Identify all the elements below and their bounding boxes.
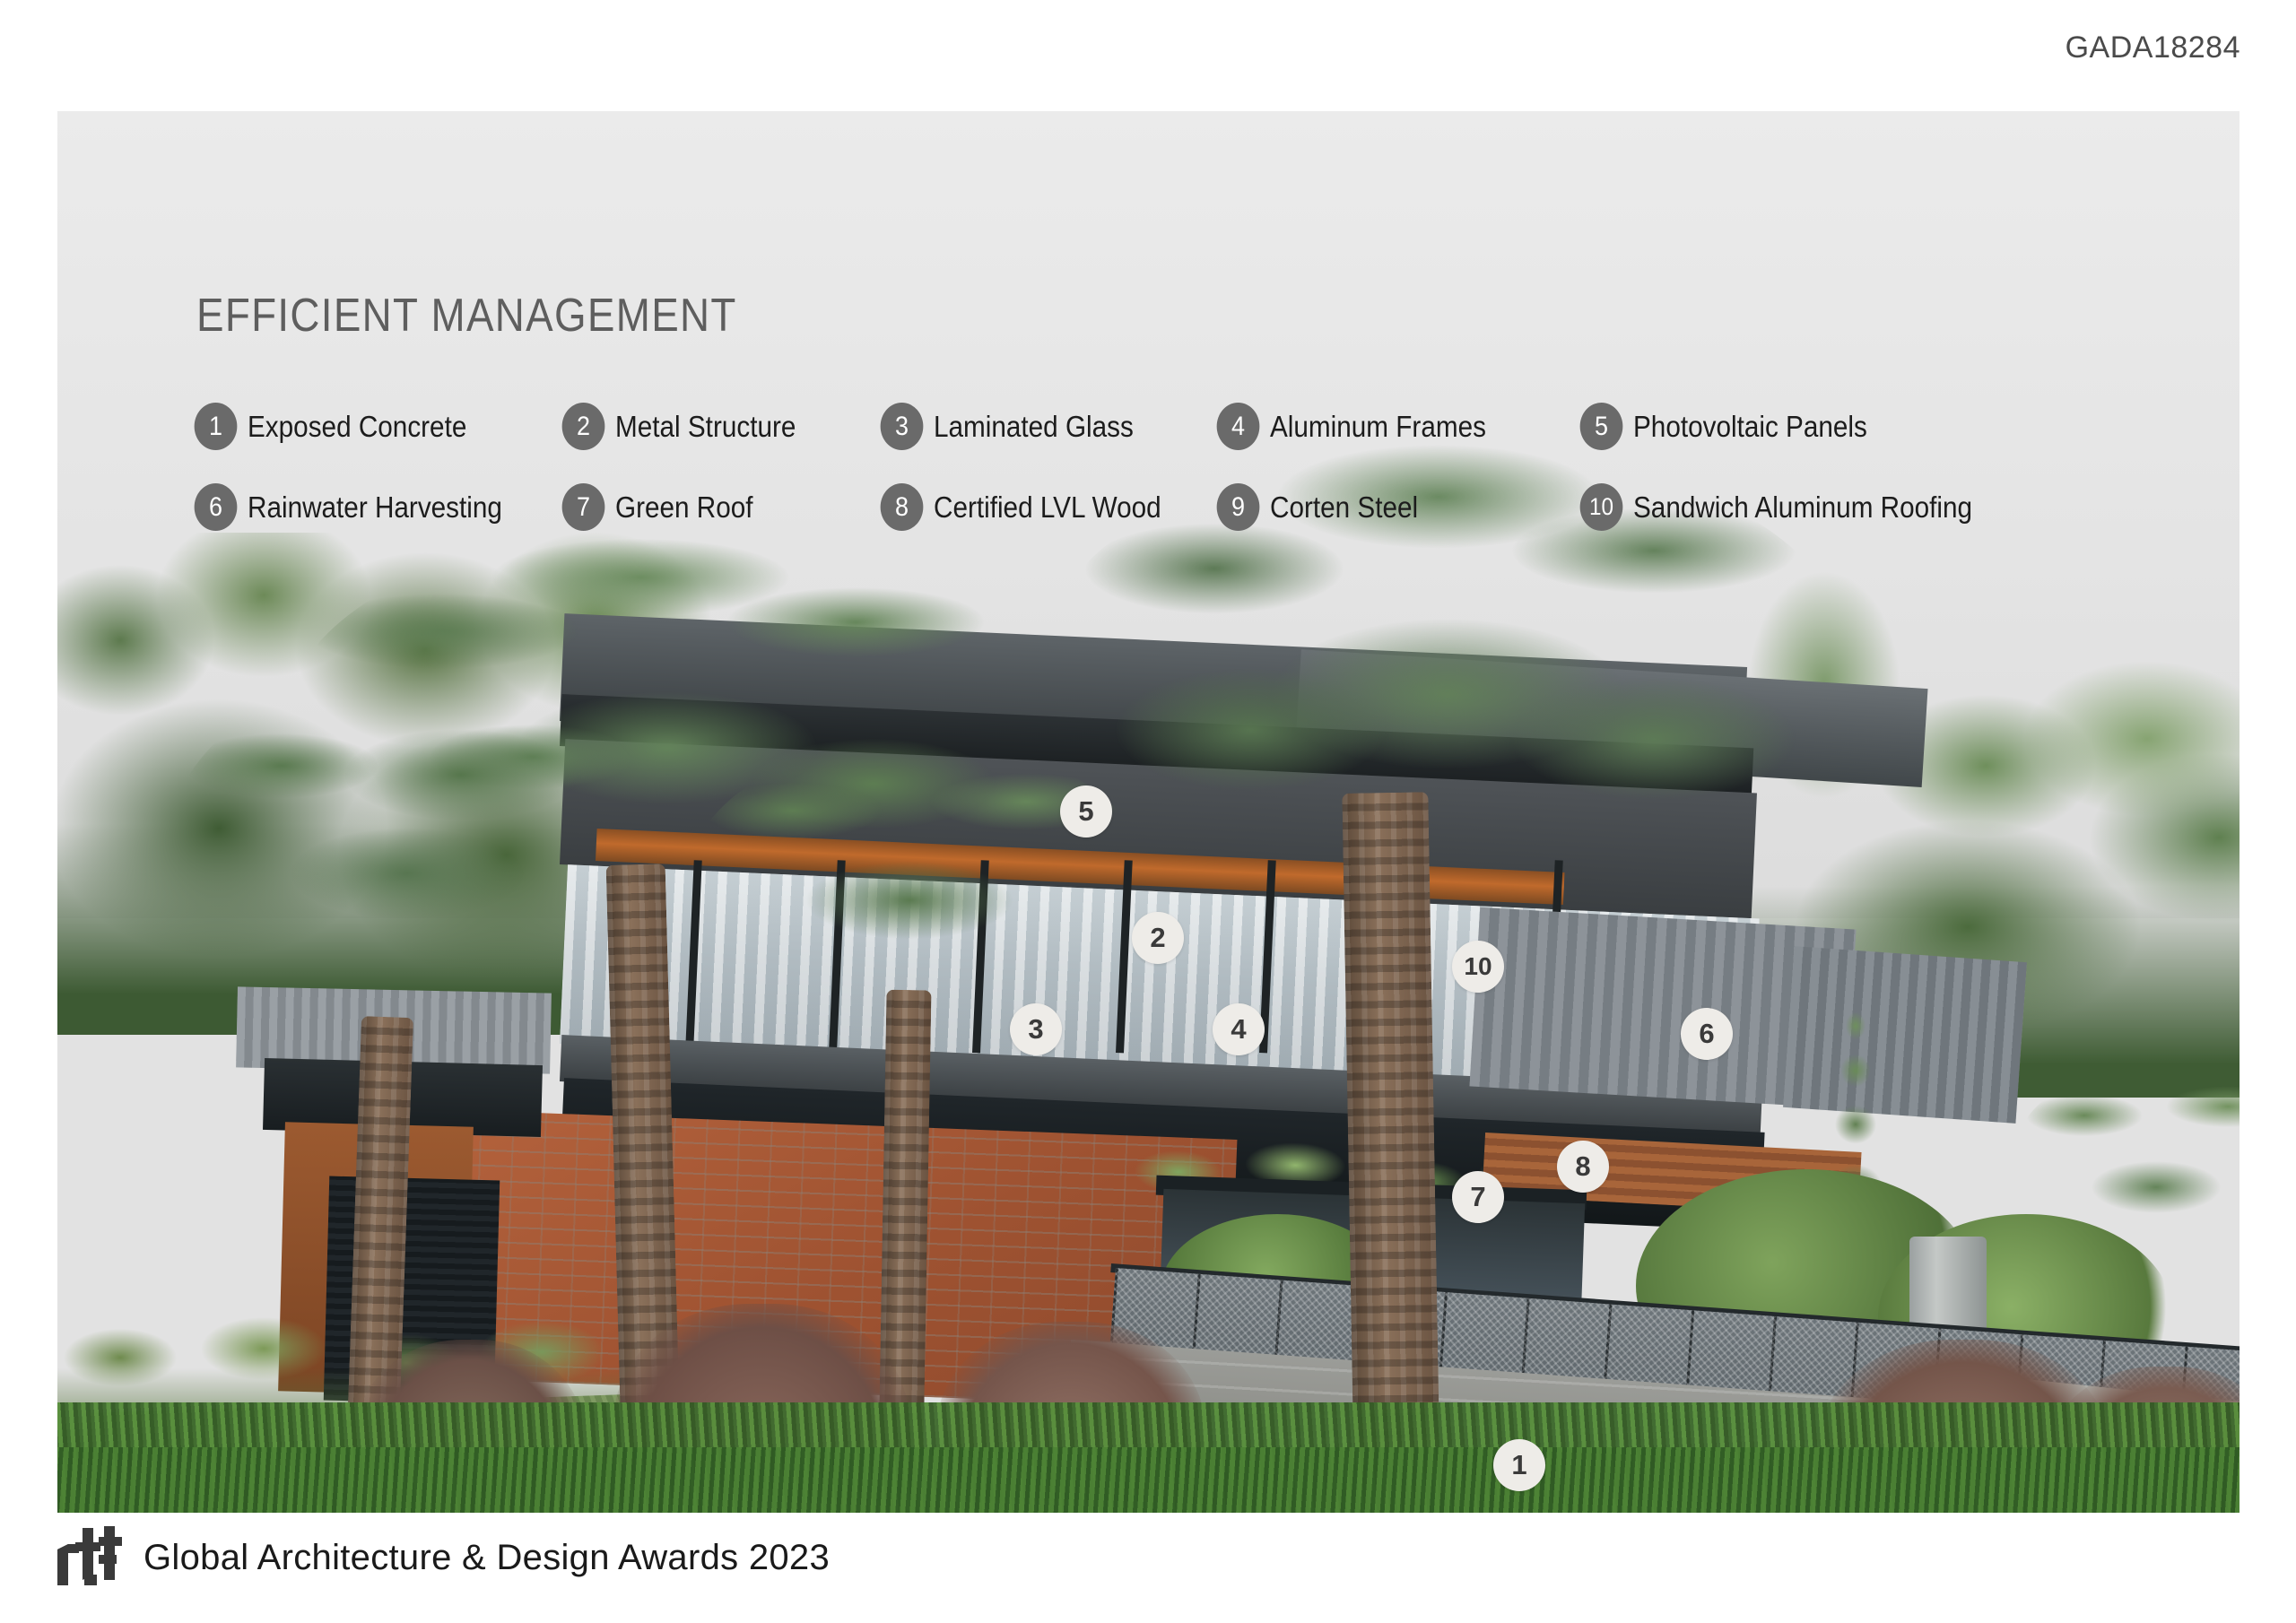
footer-text: Global Architecture & Design Awards 2023	[143, 1538, 830, 1578]
footer: Global Architecture & Design Awards 2023	[56, 1524, 830, 1591]
photo-marker-6: 6	[1681, 1008, 1733, 1060]
photo-marker-3: 3	[1010, 1003, 1062, 1055]
legend-label: Photovoltaic Panels	[1633, 410, 1867, 444]
legend-label: Aluminum Frames	[1270, 410, 1486, 444]
legend-label: Green Roof	[615, 490, 753, 525]
legend-label: Metal Structure	[615, 410, 796, 444]
legend-item-4: 4 Aluminum Frames	[1214, 403, 1510, 450]
legend-label: Exposed Concrete	[248, 410, 466, 444]
legend-row-2: 6 Rainwater Harvesting 7 Green Roof 8 Ce…	[192, 483, 2147, 564]
presentation-board-page: GADA18284	[0, 0, 2296, 1623]
legend-item-1: 1 Exposed Concrete	[192, 403, 491, 450]
photo-marker-2: 2	[1132, 912, 1184, 964]
reference-code: GADA18284	[2066, 30, 2240, 65]
legend-item-7: 7 Green Roof	[560, 483, 769, 531]
legend-row-1: 1 Exposed Concrete 2 Metal Structure 3 L…	[192, 403, 2147, 483]
legend-item-8: 8 Certified LVL Wood	[878, 483, 1187, 531]
materials-legend: 1 Exposed Concrete 2 Metal Structure 3 L…	[192, 403, 2147, 564]
legend-item-6: 6 Rainwater Harvesting	[192, 483, 530, 531]
legend-badge: 2	[562, 403, 605, 450]
legend-item-3: 3 Laminated Glass	[878, 403, 1156, 450]
photo-marker-1: 1	[1493, 1439, 1545, 1491]
foreground-grass-front	[57, 1447, 2239, 1513]
photo-marker-5: 5	[1060, 785, 1112, 838]
legend-item-5: 5 Photovoltaic Panels	[1578, 403, 1893, 450]
legend-label: Sandwich Aluminum Roofing	[1633, 490, 1972, 525]
legend-badge: 4	[1217, 403, 1260, 450]
legend-badge: 1	[195, 403, 238, 450]
legend-badge: 6	[195, 483, 238, 531]
legend-label: Certified LVL Wood	[934, 490, 1161, 525]
legend-label: Corten Steel	[1270, 490, 1418, 525]
board-panel: 122 EFFICIENT MANAGEMENT	[57, 111, 2239, 1513]
photo-marker-8: 8	[1557, 1141, 1609, 1193]
photo-marker-10: 10	[1452, 941, 1504, 993]
photo-marker-7: 7	[1452, 1171, 1504, 1223]
legend-item-9: 9 Corten Steel	[1214, 483, 1434, 531]
legend-badge: 3	[881, 403, 924, 450]
legend-item-2: 2 Metal Structure	[560, 403, 816, 450]
legend-label: Laminated Glass	[934, 410, 1134, 444]
legend-badge: 8	[881, 483, 924, 531]
rtf-logo-icon	[56, 1524, 124, 1591]
legend-badge: 5	[1580, 403, 1623, 450]
legend-label: Rainwater Harvesting	[248, 490, 502, 525]
legend-badge: 7	[562, 483, 605, 531]
legend-badge: 10	[1580, 483, 1623, 531]
page-title: EFFICIENT MANAGEMENT	[196, 289, 737, 343]
legend-item-10: 10 Sandwich Aluminum Roofing	[1578, 483, 2010, 531]
legend-badge: 9	[1217, 483, 1260, 531]
photo-marker-4: 4	[1213, 1003, 1265, 1055]
